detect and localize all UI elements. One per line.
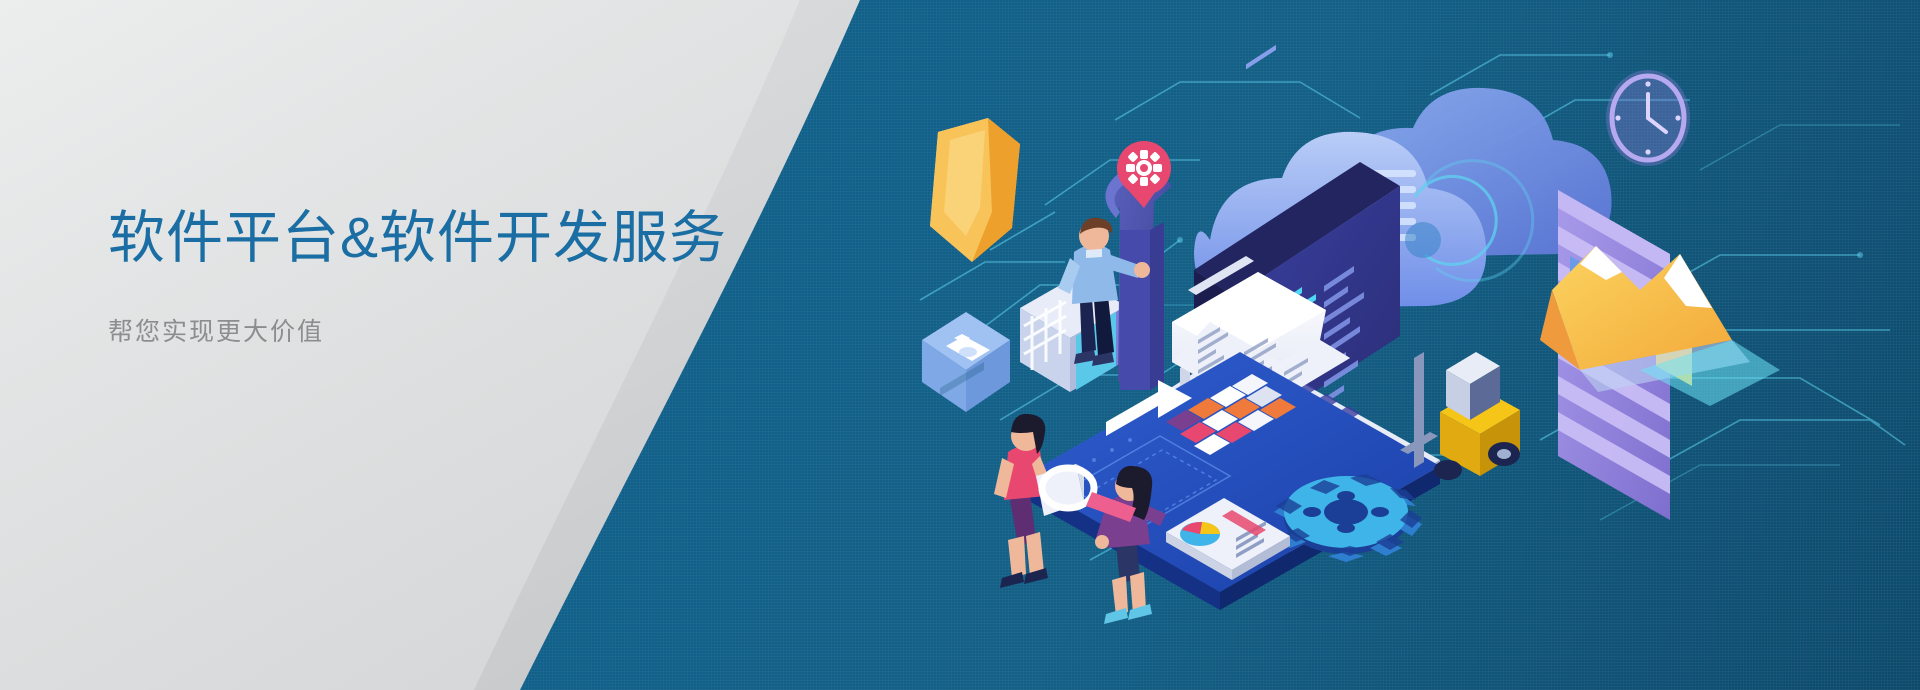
page-title: 软件平台&软件开发服务 (108, 206, 727, 272)
shield-icon (930, 118, 1020, 262)
banner-copy: 软件平台&软件开发服务 帮您实现更大价值 (108, 206, 727, 348)
clock-icon (1606, 70, 1690, 166)
hero-illustration (880, 40, 1920, 640)
page-subtitle: 帮您实现更大价值 (108, 312, 727, 348)
hero-banner: 软件平台&软件开发服务 帮您实现更大价值 (0, 0, 1920, 690)
forklift-vehicle (1400, 352, 1520, 480)
camera-icon (922, 312, 1010, 412)
